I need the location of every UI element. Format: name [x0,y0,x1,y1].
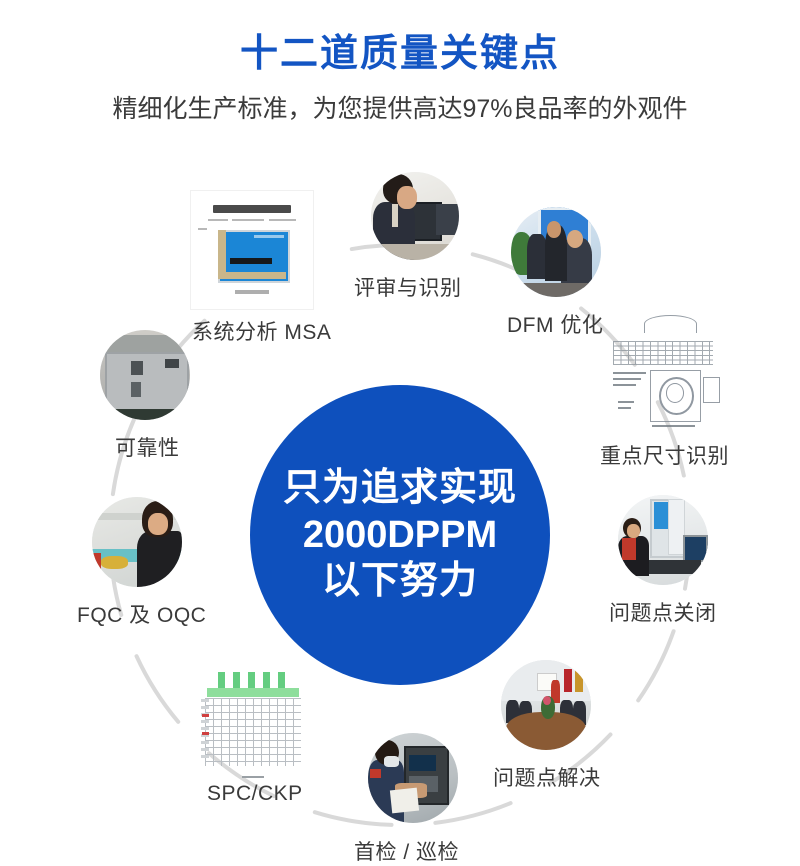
node-dfm[interactable]: DFM 优化 [511,207,601,297]
node-spc-ckp-label: SPC/CKP [207,782,303,806]
node-spc-ckp-image [198,670,308,780]
center-hub: 只为追求实现 2000DPPM 以下努力 [250,385,550,685]
node-spc-ckp[interactable]: SPC/CKP [198,670,308,780]
node-issue-closed[interactable]: 问题点关闭 [618,495,708,585]
node-fqc-oqc-label: FQC 及 OQC [77,599,206,629]
node-first-inspection[interactable]: 首检 / 巡检 [368,733,458,823]
node-issue-resolved-label: 问题点解决 [493,762,601,792]
node-issue-resolved-image [501,660,591,750]
node-review-label: 评审与识别 [354,272,462,302]
node-reliability[interactable]: 可靠性 [100,330,190,420]
page-subtitle: 精细化生产标准，为您提供高达97%良品率的外观件 [0,94,800,124]
node-msa-label: 系统分析 MSA [192,316,331,346]
page-header: 十二道质量关键点 精细化生产标准，为您提供高达97%良品率的外观件 [0,0,800,124]
node-msa[interactable]: 系统分析 MSA [190,190,314,310]
node-issue-resolved[interactable]: 问题点解决 [501,660,591,750]
node-fqc-oqc-image [92,497,182,587]
hub-line-3: 以下努力 [322,558,478,604]
node-key-dimension[interactable]: 重点尺寸识别 [608,310,736,430]
page-title: 十二道质量关键点 [0,34,800,76]
node-review-image [371,172,459,260]
node-dfm-image [511,207,601,297]
node-fqc-oqc[interactable]: FQC 及 OQC [92,497,182,587]
node-review[interactable]: 评审与识别 [371,172,459,260]
hub-line-2: 2000DPPM [303,512,497,558]
node-key-dimension-image [608,310,736,430]
node-issue-closed-image [618,495,708,585]
node-reliability-label: 可靠性 [115,432,180,462]
node-msa-image [190,190,314,310]
quality-cycle-diagram: 只为追求实现 2000DPPM 以下努力 评审与识别 DFM 优化 [0,150,800,860]
node-first-inspection-label: 首检 / 巡检 [354,836,459,866]
node-reliability-image [100,330,190,420]
node-first-inspection-image [368,733,458,823]
node-key-dimension-label: 重点尺寸识别 [600,440,729,470]
hub-line-1: 只为追求实现 [283,465,517,511]
node-dfm-label: DFM 优化 [507,309,603,339]
node-issue-closed-label: 问题点关闭 [609,597,717,627]
test-report-title-bar [213,205,291,213]
